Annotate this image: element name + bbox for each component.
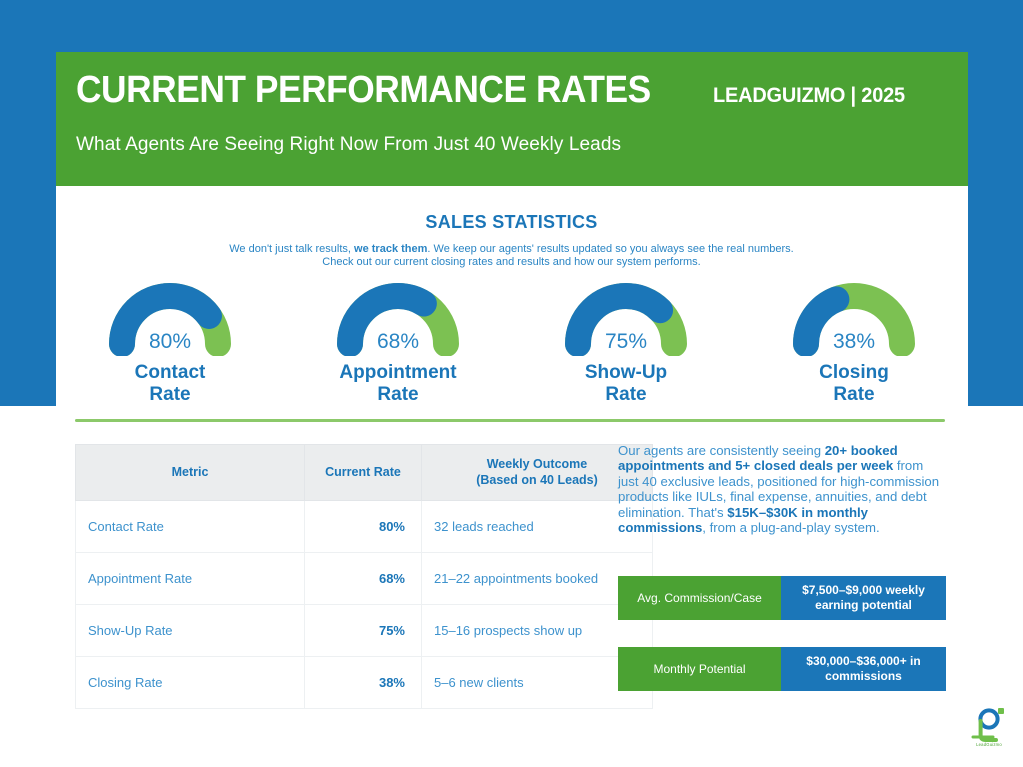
logo-mark-icon xyxy=(963,706,1015,746)
desc-part-2: . We keep our agents' results updated so… xyxy=(427,243,793,255)
callout-label: Avg. Commission/Case xyxy=(618,576,781,620)
cell-current-rate: 75% xyxy=(305,605,422,657)
leadguizmo-logo: LeadGuizmo xyxy=(963,706,1015,754)
page-title: CURRENT PERFORMANCE RATES xyxy=(76,71,651,109)
column-header-metric: Metric xyxy=(76,445,305,501)
gauge-show-up-rate: 75%Show-UpRate xyxy=(540,282,712,406)
table-header-row: Metric Current Rate Weekly Outcome (Base… xyxy=(76,445,653,501)
gauge-chart-group: 80%ContactRate68%AppointmentRate75%Show-… xyxy=(56,282,968,404)
pitch-paragraph: Our agents are consistently seeing 20+ b… xyxy=(618,443,946,536)
callout-monthly-potential: Monthly Potential $30,000–$36,000+ in co… xyxy=(618,647,946,691)
page-subtitle: What Agents Are Seeing Right Now From Ju… xyxy=(76,134,621,156)
pitch-text-3: , from a plug-and-play system. xyxy=(702,520,879,535)
cell-metric: Show-Up Rate xyxy=(76,605,305,657)
section-description: We don't just talk results, we track the… xyxy=(0,243,1023,269)
column-header-current-rate: Current Rate xyxy=(305,445,422,501)
pitch-text-1: Our agents are consistently seeing xyxy=(618,443,825,458)
table-header: Metric Current Rate Weekly Outcome (Base… xyxy=(76,445,653,501)
cell-current-rate: 68% xyxy=(305,553,422,605)
gauge-caption-line1: Contact xyxy=(135,362,206,383)
gauge-caption: AppointmentRate xyxy=(312,362,484,406)
table-body: Contact Rate80%32 leads reachedAppointme… xyxy=(76,501,653,709)
callout-value: $30,000–$36,000+ in commissions xyxy=(781,647,946,691)
gauge-caption-line2: Rate xyxy=(833,384,874,405)
desc-part-1: We don't just talk results, xyxy=(229,243,354,255)
gauge-caption: ClosingRate xyxy=(768,362,940,406)
table-row: Closing Rate38%5–6 new clients xyxy=(76,657,653,709)
header-band: CURRENT PERFORMANCE RATES LEADGUIZMO | 2… xyxy=(56,52,968,186)
gauge-caption-line1: Show-Up xyxy=(585,362,667,383)
gauge-caption: ContactRate xyxy=(84,362,256,406)
cell-current-rate: 80% xyxy=(305,501,422,553)
gauge-caption-line1: Appointment xyxy=(339,362,456,383)
section-title-sales-statistics: SALES STATISTICS xyxy=(0,212,1023,233)
gauge-appointment-rate: 68%AppointmentRate xyxy=(312,282,484,406)
gauge-value-label: 68% xyxy=(312,330,484,354)
gauge-value-label: 38% xyxy=(768,330,940,354)
gauge-value-label: 75% xyxy=(540,330,712,354)
gauge-caption-line1: Closing xyxy=(819,362,889,383)
desc-emphasis: we track them xyxy=(354,243,427,255)
section-divider xyxy=(75,419,945,422)
brand-year-label: LEADGUIZMO | 2025 xyxy=(713,84,905,108)
cell-current-rate: 38% xyxy=(305,657,422,709)
cell-metric: Appointment Rate xyxy=(76,553,305,605)
callout-value: $7,500–$9,000 weekly earning potential xyxy=(781,576,946,620)
callout-avg-commission: Avg. Commission/Case $7,500–$9,000 weekl… xyxy=(618,576,946,620)
gauge-caption-line2: Rate xyxy=(377,384,418,405)
callout-label: Monthly Potential xyxy=(618,647,781,691)
table-row: Contact Rate80%32 leads reached xyxy=(76,501,653,553)
gauge-caption-line2: Rate xyxy=(605,384,646,405)
desc-part-3: Check out our current closing rates and … xyxy=(322,256,700,268)
logo-wordmark: LeadGuizmo xyxy=(963,742,1015,747)
metrics-table: Metric Current Rate Weekly Outcome (Base… xyxy=(75,444,653,709)
gauge-caption-line2: Rate xyxy=(149,384,190,405)
table-row: Appointment Rate68%21–22 appointments bo… xyxy=(76,553,653,605)
column-header-outcome-line2: (Based on 40 Leads) xyxy=(476,473,598,487)
gauge-value-label: 80% xyxy=(84,330,256,354)
table-row: Show-Up Rate75%15–16 prospects show up xyxy=(76,605,653,657)
cell-metric: Closing Rate xyxy=(76,657,305,709)
column-header-outcome-line1: Weekly Outcome xyxy=(487,457,588,471)
gauge-caption: Show-UpRate xyxy=(540,362,712,406)
gauge-contact-rate: 80%ContactRate xyxy=(84,282,256,406)
gauge-closing-rate: 38%ClosingRate xyxy=(768,282,940,406)
cell-metric: Contact Rate xyxy=(76,501,305,553)
